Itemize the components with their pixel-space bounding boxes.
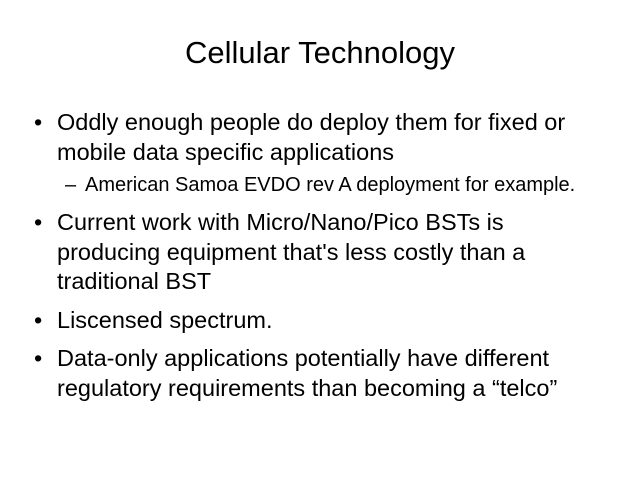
sub-list-item-text: American Samoa EVDO rev A deployment for…: [85, 173, 590, 198]
list-item-text: Current work with Micro/Nano/Pico BSTs i…: [57, 208, 612, 297]
presentation-slide: Cellular Technology • Oddly enough peopl…: [0, 0, 640, 480]
list-item: • Oddly enough people do deploy them for…: [0, 108, 640, 167]
list-item: • Current work with Micro/Nano/Pico BSTs…: [0, 208, 640, 297]
sub-list-item: – American Samoa EVDO rev A deployment f…: [0, 173, 640, 198]
bullet-marker-icon: •: [34, 306, 42, 336]
dash-marker-icon: –: [65, 173, 76, 198]
bullet-marker-icon: •: [34, 344, 42, 374]
bullet-marker-icon: •: [34, 108, 42, 138]
list-item: • Liscensed spectrum.: [0, 306, 640, 336]
list-item-text: Oddly enough people do deploy them for f…: [57, 108, 612, 167]
slide-body: • Oddly enough people do deploy them for…: [0, 108, 640, 409]
bullet-marker-icon: •: [34, 208, 42, 238]
list-item-text: Data-only applications potentially have …: [57, 344, 612, 403]
list-item-text: Liscensed spectrum.: [57, 306, 612, 336]
page-title: Cellular Technology: [0, 34, 640, 72]
list-item: • Data-only applications potentially hav…: [0, 344, 640, 403]
